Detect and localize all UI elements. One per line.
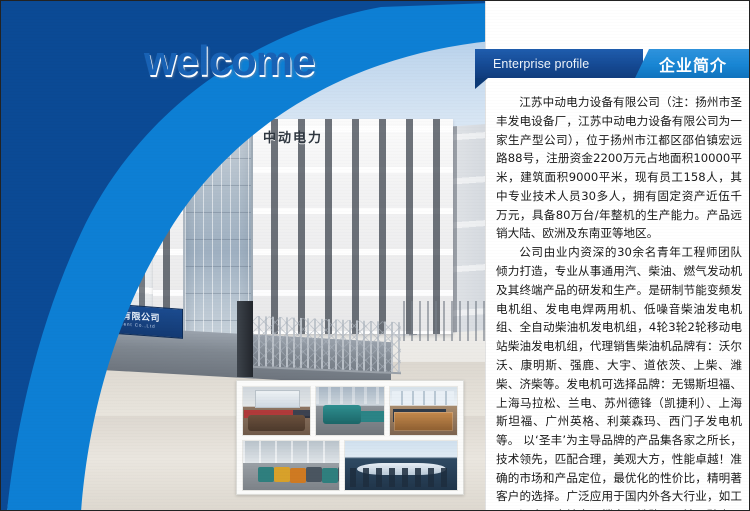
profile-paragraph-1: 江苏中动电力设备有限公司（注：扬州市圣丰发电设备厂，江苏中动电力设备有限公司为一… (496, 93, 742, 243)
showroom-reception-photo[interactable] (389, 386, 458, 436)
conference-room-photo[interactable] (344, 440, 458, 491)
section-banner: Enterprise profile 企业简介 (475, 49, 750, 78)
page-canvas: 中动电力 江苏中动电力设备有限公司 Zhongdong Power Equipm… (0, 0, 750, 511)
generator-workshop-photo[interactable] (315, 386, 384, 436)
enterprise-profile-panel: Enterprise profile 企业简介 江苏中动电力设备有限公司（注：扬… (485, 1, 750, 511)
banner-english-label: Enterprise profile (493, 49, 589, 78)
warehouse-gensets-photo[interactable] (242, 440, 340, 491)
profile-paragraph-2: 公司由业内资深的30余名青年工程师团队倾力打造，专业从事通用汽、柴油、燃气发动机… (496, 243, 742, 511)
left-hero-panel: 中动电力 江苏中动电力设备有限公司 Zhongdong Power Equipm… (1, 1, 491, 511)
banner-fold-tail-icon (475, 78, 488, 89)
page-title: welcome (144, 37, 314, 85)
banner-chinese-label: 企业简介 (659, 49, 727, 78)
photo-gallery (236, 380, 464, 495)
profile-body-text: 江苏中动电力设备有限公司（注：扬州市圣丰发电设备厂，江苏中动电力设备有限公司为一… (496, 93, 742, 511)
office-meeting-photo[interactable] (242, 386, 311, 436)
gallery-row-top (242, 386, 458, 436)
gallery-row-bottom (242, 440, 458, 491)
